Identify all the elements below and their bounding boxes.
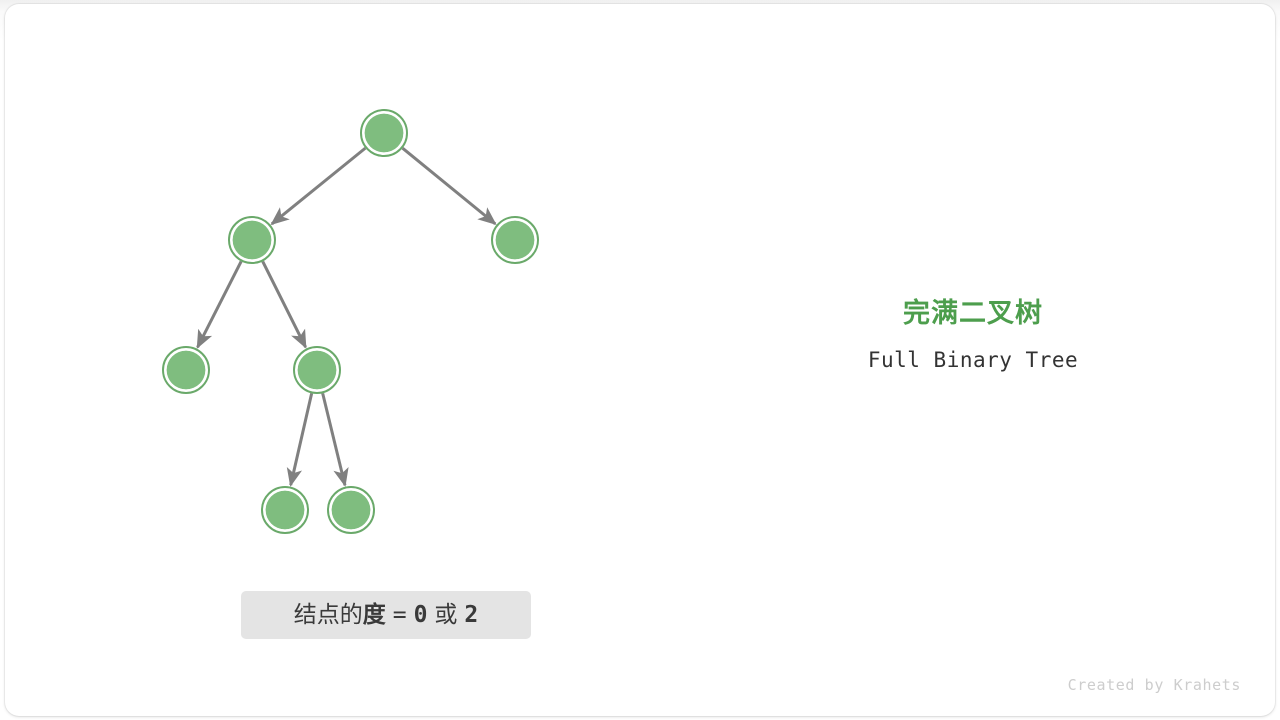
degree-condition-chip: 结点的度=0或2 — [241, 591, 531, 639]
tree-node-fill — [266, 491, 305, 530]
tree-node — [328, 487, 374, 533]
tree-node-fill — [167, 351, 206, 390]
legend-title: 完满二叉树 — [773, 296, 1173, 330]
tree-node — [294, 347, 340, 393]
degree-condition-text: 结点的度=0或2 — [294, 604, 479, 627]
tree-node-fill — [365, 114, 404, 153]
screenshot-stage: 完满二叉树 Full Binary Tree 结点的度=0或2 Created … — [0, 0, 1280, 720]
tree-node — [163, 347, 209, 393]
tree-nodes — [163, 110, 538, 533]
tree-node-fill — [496, 221, 535, 260]
tree-edges — [198, 148, 496, 485]
degree-prefix: 结点的 — [294, 602, 363, 628]
tree-node — [492, 217, 538, 263]
degree-equals: = — [393, 602, 407, 628]
tree-edge — [198, 261, 242, 347]
degree-value-b: 2 — [464, 602, 478, 628]
tree-node-fill — [298, 351, 337, 390]
tree-edge — [263, 261, 306, 347]
degree-term: 度 — [363, 602, 386, 628]
tree-node-fill — [233, 221, 272, 260]
tree-edge — [291, 393, 312, 485]
tree-edge — [323, 393, 345, 485]
legend-block: 完满二叉树 Full Binary Tree — [773, 296, 1173, 374]
degree-value-a: 0 — [414, 602, 428, 628]
tree-edge — [403, 148, 496, 224]
tree-node — [361, 110, 407, 156]
diagram-card: 完满二叉树 Full Binary Tree 结点的度=0或2 Created … — [5, 4, 1275, 716]
legend-subtitle: Full Binary Tree — [773, 346, 1173, 374]
footer-credit: Created by Krahets — [1068, 676, 1241, 694]
tree-node — [262, 487, 308, 533]
tree-edge — [272, 148, 366, 224]
tree-node-fill — [332, 491, 371, 530]
degree-conjunction: 或 — [434, 602, 457, 628]
tree-node — [229, 217, 275, 263]
